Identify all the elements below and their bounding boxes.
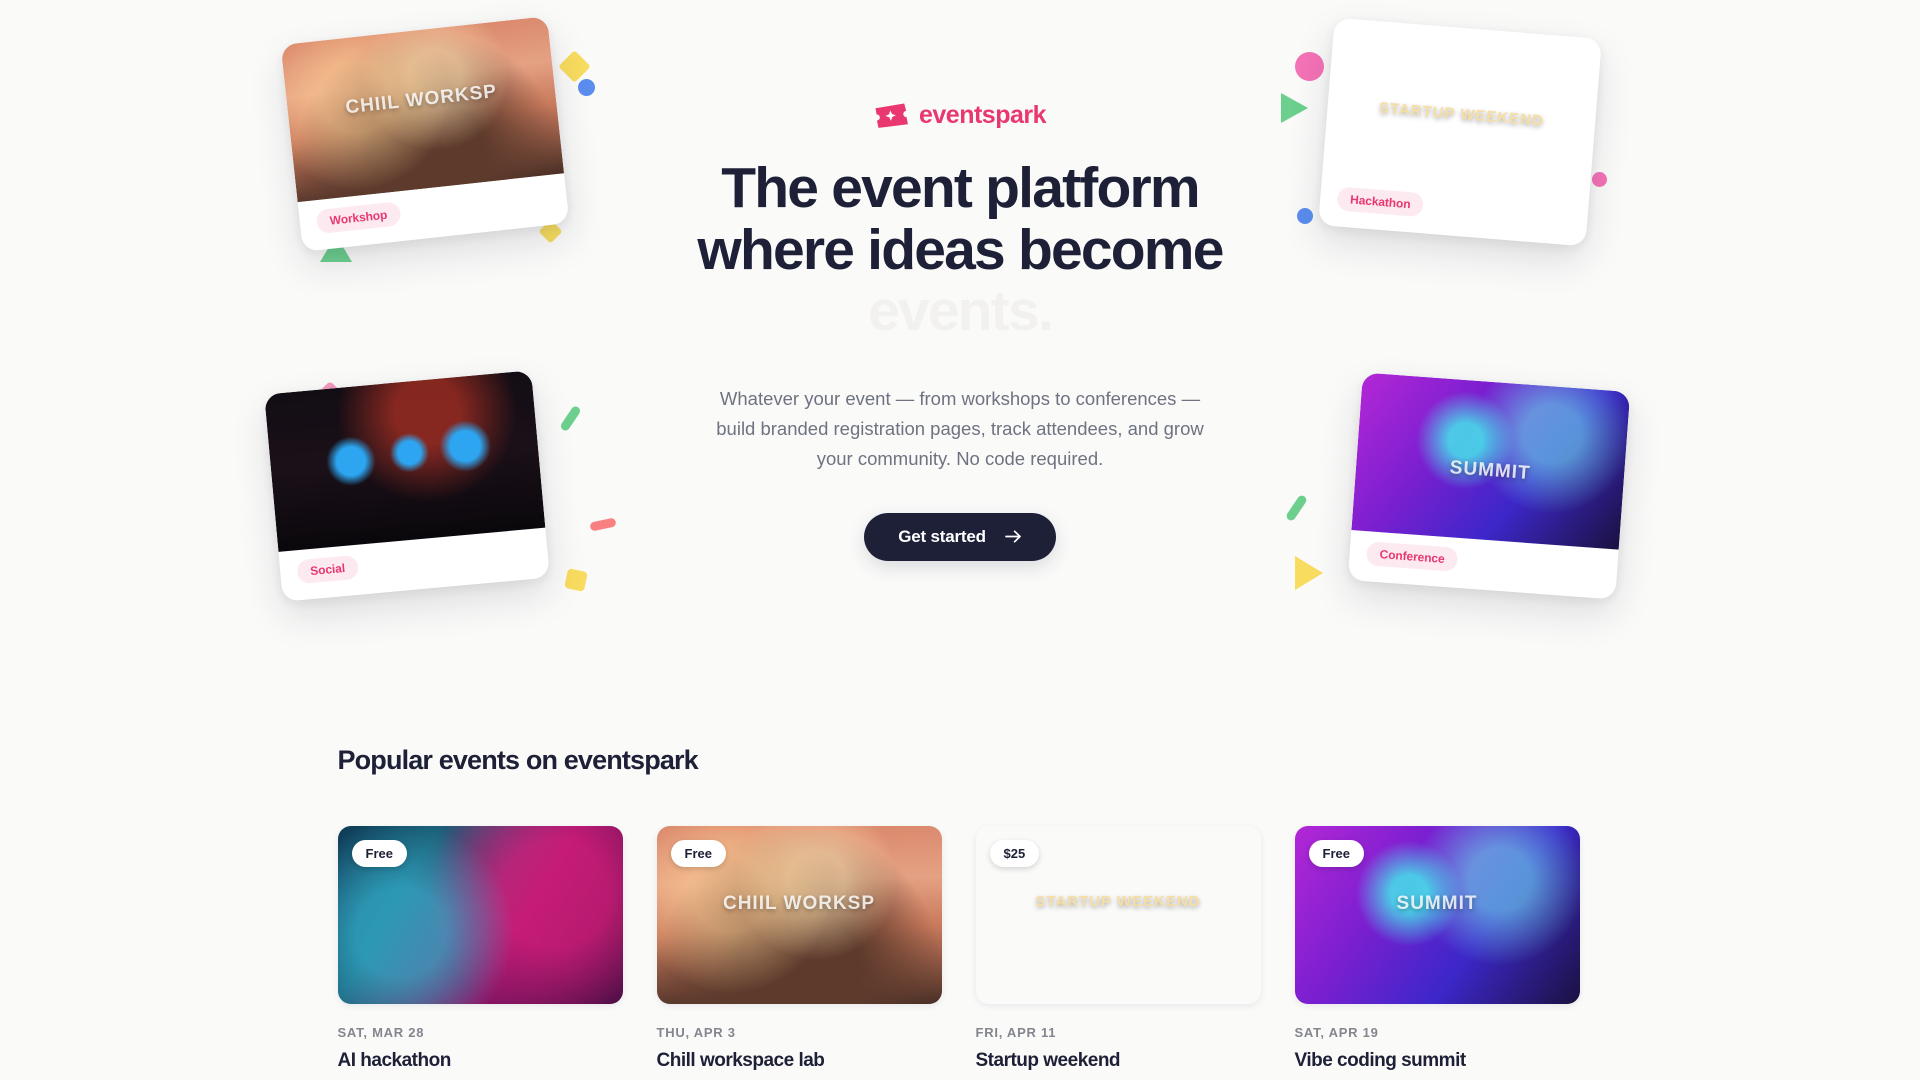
event-thumbnail[interactable]: Free: [338, 826, 623, 1004]
decor-pink-circle-2: [1295, 52, 1324, 81]
landing-page: CHIIL WORKSP Workshop STARTUP WEEKEND Ha…: [0, 0, 1920, 1080]
category-badge: Social: [296, 555, 359, 584]
photo-caption: SUMMIT: [1295, 894, 1580, 914]
photo-caption: CHIIL WORKSP: [287, 76, 556, 125]
arrow-right-icon: [1005, 530, 1022, 543]
category-badge: Hackathon: [1336, 186, 1424, 217]
ticket-sparkle-icon: [873, 101, 909, 129]
headline-line-1: The event platform: [580, 158, 1340, 220]
hero-content: eventspark The event platform where idea…: [580, 98, 1340, 561]
event-date: SAT, MAR 28: [338, 1025, 623, 1040]
decor-yellow-triangle: [1295, 556, 1323, 590]
floating-card-photo: SUMMIT: [1351, 372, 1630, 549]
headline-line-2: where ideas become: [580, 220, 1340, 282]
headline-line-3: events.: [580, 281, 1340, 343]
event-thumbnail[interactable]: STARTUP WEEKEND $25: [976, 826, 1261, 1004]
event-card[interactable]: SUMMIT Free SAT, APR 19 Vibe coding summ…: [1295, 826, 1580, 1073]
decor-yellow-square: [564, 568, 588, 592]
popular-events-section: Popular events on eventspark Free SAT, M…: [0, 745, 1920, 1073]
events-grid: Free SAT, MAR 28 AI hackathon CHIIL WORK…: [338, 826, 1583, 1073]
decor-green-dash: [559, 405, 582, 432]
section-title: Popular events on eventspark: [338, 745, 1583, 776]
cta-container: Get started: [580, 513, 1340, 561]
brand-name: eventspark: [919, 103, 1046, 128]
event-title: Vibe coding summit: [1295, 1049, 1580, 1073]
floating-card-conference[interactable]: SUMMIT Conference: [1348, 372, 1631, 599]
get-started-label: Get started: [898, 527, 986, 547]
floating-card-hackathon[interactable]: STARTUP WEEKEND Hackathon: [1318, 18, 1602, 247]
event-thumbnail[interactable]: SUMMIT Free: [1295, 826, 1580, 1004]
price-badge: $25: [990, 840, 1040, 867]
category-badge: Workshop: [316, 201, 402, 234]
photo-caption: STARTUP WEEKEND: [976, 894, 1261, 910]
event-title: Chill workspace lab: [657, 1049, 942, 1073]
floating-card-photo: CHIIL WORKSP: [281, 16, 564, 202]
photo-caption: SUMMIT: [1356, 451, 1625, 491]
get-started-button[interactable]: Get started: [864, 513, 1056, 561]
floating-card-workshop[interactable]: CHIIL WORKSP Workshop: [281, 16, 570, 252]
floating-card-social[interactable]: Social: [264, 370, 550, 601]
event-title: AI hackathon: [338, 1049, 623, 1073]
event-date: SAT, APR 19: [1295, 1025, 1580, 1040]
decor-blue-circle: [578, 79, 595, 96]
brand-logo[interactable]: eventspark: [580, 98, 1340, 132]
photo-caption: STARTUP WEEKEND: [1327, 96, 1595, 133]
event-date: FRI, APR 11: [976, 1025, 1261, 1040]
price-badge: Free: [671, 840, 726, 867]
floating-card-photo: [264, 370, 545, 552]
event-date: THU, APR 3: [657, 1025, 942, 1040]
hero-section: CHIIL WORKSP Workshop STARTUP WEEKEND Ha…: [0, 0, 1920, 680]
page-title: The event platform where ideas become ev…: [580, 158, 1340, 343]
photo-caption: [271, 449, 538, 473]
event-card[interactable]: CHIIL WORKSP Free THU, APR 3 Chill works…: [657, 826, 942, 1073]
price-badge: Free: [352, 840, 407, 867]
event-thumbnail[interactable]: CHIIL WORKSP Free: [657, 826, 942, 1004]
event-title: Startup weekend: [976, 1049, 1261, 1073]
hero-subtitle: Whatever your event — from workshops to …: [700, 384, 1220, 474]
decor-pink-circle-3: [1592, 172, 1607, 187]
category-badge: Conference: [1366, 541, 1459, 572]
floating-card-photo: STARTUP WEEKEND: [1322, 18, 1602, 197]
price-badge: Free: [1309, 840, 1364, 867]
event-card[interactable]: Free SAT, MAR 28 AI hackathon: [338, 826, 623, 1073]
decor-yellow-diamond: [558, 50, 591, 83]
event-card[interactable]: STARTUP WEEKEND $25 FRI, APR 11 Startup …: [976, 826, 1261, 1073]
photo-caption: CHIIL WORKSP: [657, 894, 942, 914]
